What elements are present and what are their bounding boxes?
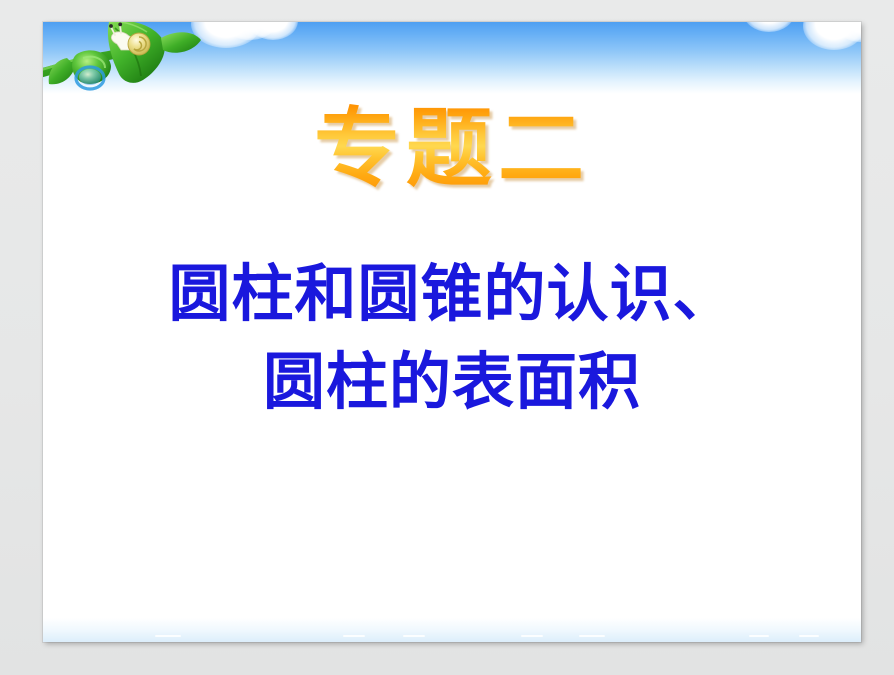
slide-viewer: 专题二 圆柱和圆锥的认识、 圆柱的表面积	[0, 0, 894, 675]
cloud-icon	[833, 22, 861, 42]
cloud-icon	[221, 22, 279, 40]
subtitle-line-1: 圆柱和圆锥的认识、	[43, 250, 861, 338]
bottom-accent-band	[43, 618, 861, 642]
page-title: 专题二	[43, 104, 861, 194]
leaf-icon	[161, 32, 201, 53]
cloud-icon	[743, 22, 795, 32]
presentation-slide: 专题二 圆柱和圆锥的认识、 圆柱的表面积	[43, 22, 861, 642]
cloud-icon	[248, 22, 298, 40]
vine-leaf-snail-icon	[43, 22, 203, 110]
cloud-icon	[803, 22, 861, 50]
subtitle-block: 圆柱和圆锥的认识、 圆柱的表面积	[43, 250, 861, 426]
subtitle-line-2: 圆柱的表面积	[43, 338, 861, 426]
